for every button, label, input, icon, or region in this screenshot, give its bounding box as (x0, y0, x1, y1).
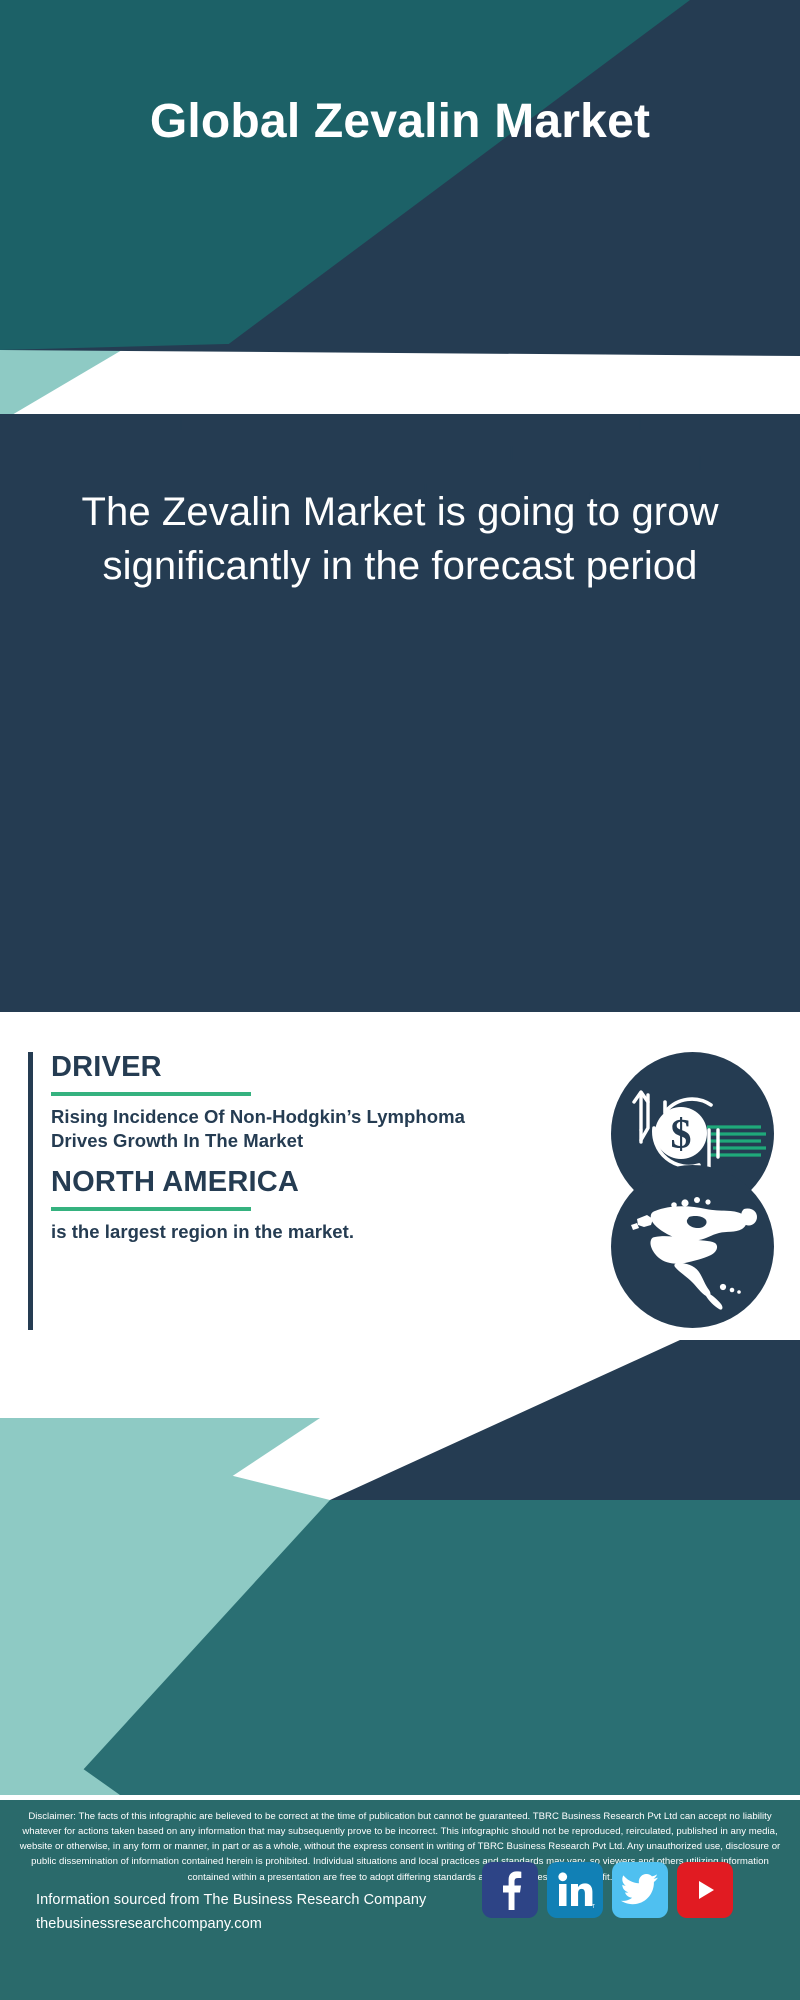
infographic-page: Global Zevalin Market (0, 0, 800, 2000)
header-diagonal-overlay (0, 0, 800, 352)
insights-section: DRIVER Rising Incidence Of Non-Hodgkin’s… (0, 1012, 800, 1332)
hero-headline: The Zevalin Market is going to grow sign… (60, 486, 740, 593)
north-america-map-icon (611, 1165, 774, 1328)
region-card-text: is the largest region in the market. (51, 1220, 481, 1245)
driver-card-body: DRIVER Rising Incidence Of Non-Hodgkin’s… (51, 1052, 481, 1154)
driver-card-text: Rising Incidence Of Non-Hodgkin’s Lympho… (51, 1105, 481, 1154)
footer-source-line: Information sourced from The Business Re… (36, 1889, 426, 1913)
youtube-play-glyph (690, 1875, 720, 1905)
linkedin-icon[interactable]: TM (547, 1862, 603, 1918)
region-card-body: NORTH AMERICA is the largest region in t… (51, 1167, 481, 1244)
driver-card: DRIVER Rising Incidence Of Non-Hodgkin’s… (28, 1052, 772, 1154)
footer-diagonal-shapes (0, 1330, 800, 1795)
footer-graphic-band (0, 1330, 800, 1795)
driver-card-underline (51, 1092, 251, 1096)
region-card: NORTH AMERICA is the largest region in t… (28, 1167, 772, 1244)
region-card-heading: NORTH AMERICA (51, 1167, 481, 1199)
svg-text:TM: TM (592, 1904, 595, 1909)
page-title: Global Zevalin Market (0, 96, 800, 149)
driver-card-heading: DRIVER (51, 1052, 481, 1084)
footer-website[interactable]: thebusinessresearchcompany.com (36, 1913, 426, 1937)
hero-section: The Zevalin Market is going to grow sign… (0, 414, 800, 1012)
header-banner: Global Zevalin Market (0, 0, 800, 352)
svg-text:$: $ (671, 1112, 692, 1158)
footer-source-info: Information sourced from The Business Re… (36, 1889, 426, 1937)
youtube-icon[interactable] (677, 1862, 733, 1918)
disclaimer-divider (0, 1795, 800, 1800)
social-links: TM (482, 1862, 733, 1918)
twitter-glyph (620, 1873, 660, 1907)
facebook-icon[interactable] (482, 1862, 538, 1918)
north-america-map-glyph (611, 1165, 774, 1328)
region-card-underline (51, 1207, 251, 1211)
facebook-glyph (492, 1870, 528, 1910)
linkedin-glyph: TM (555, 1871, 595, 1909)
twitter-icon[interactable] (612, 1862, 668, 1918)
